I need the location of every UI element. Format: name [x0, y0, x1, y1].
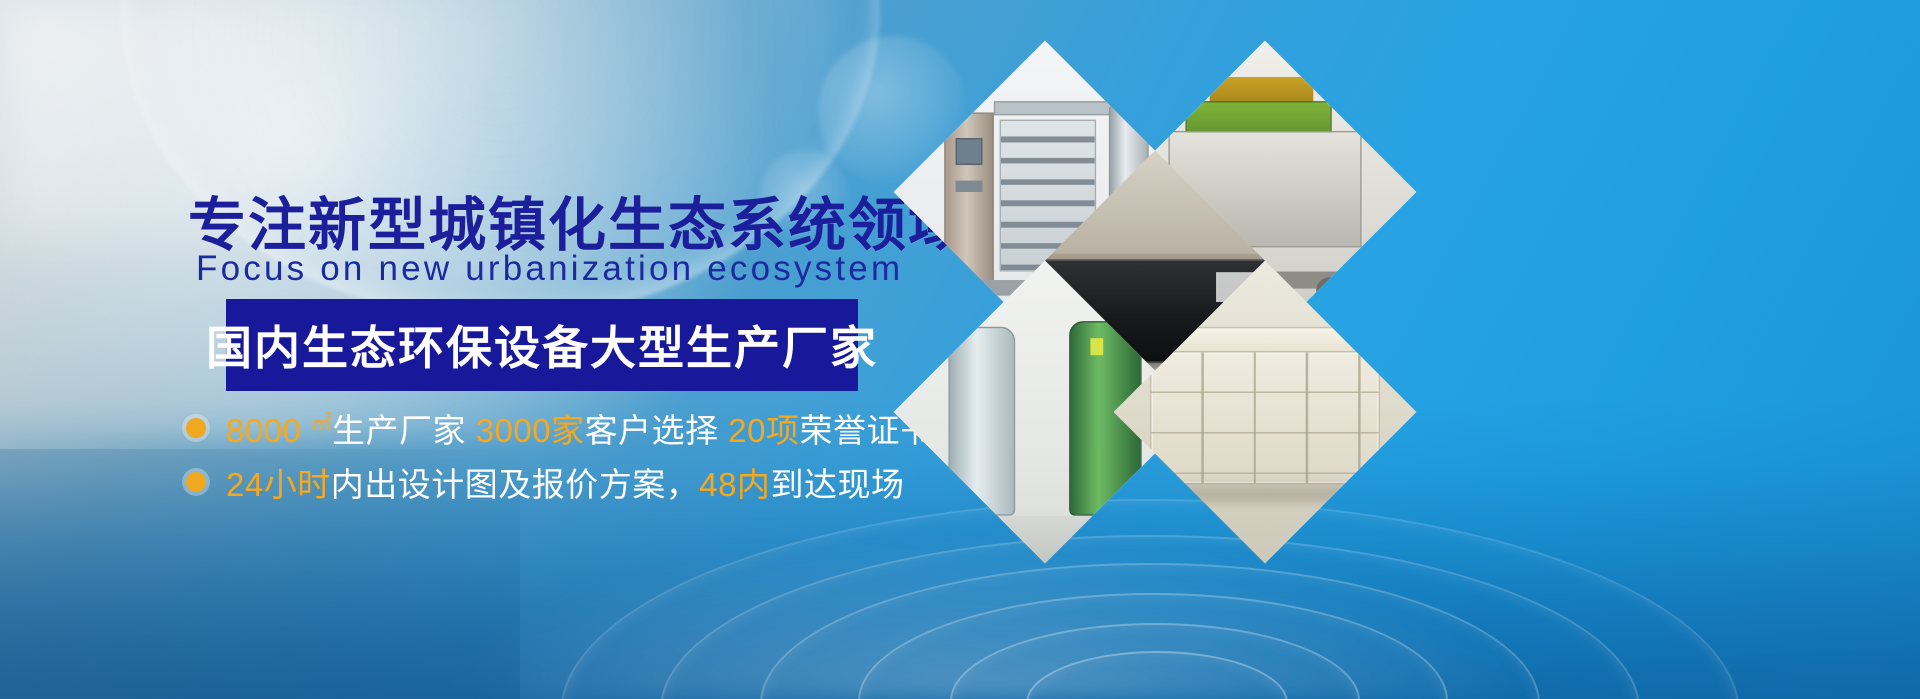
bullet-2-seg-1: 24小时 — [226, 466, 331, 503]
machine-wheel-right — [1317, 277, 1344, 304]
bullet-dot-icon — [186, 472, 206, 492]
bullet-dot-icon — [186, 418, 206, 438]
ro-control-cabinet — [945, 113, 994, 283]
list-item: 24小时内出设计图及报价方案，48内到达现场 — [186, 458, 934, 506]
bullet-1-unit: ㎡ — [311, 412, 332, 435]
highlight-banner-box: 国内生态环保设备大型生产厂家 — [226, 299, 858, 391]
bullet-1-seg-5: 20项 — [728, 412, 799, 449]
product-diamond-gallery — [900, 40, 1920, 600]
bullet-2-seg-4: 到达现场 — [770, 466, 904, 503]
bullet-1-seg-3: 3000家 — [476, 412, 585, 449]
ro-pipe-manifold — [993, 101, 1142, 116]
feature-bullet-list: 8000 ㎡生产厂家 3000家客户选择 20项荣誉证书 24小时内出设计图及报… — [186, 404, 934, 512]
page-subtitle: Focus on new urbanization ecosystem — [196, 249, 903, 289]
filter-tank-grey — [948, 327, 1015, 515]
block-stack-shadow — [1143, 485, 1386, 503]
bullet-1-seg-1: 8000 — [226, 412, 311, 449]
hero-banner: 专注新型城镇化生态系统领域 Focus on new urbanization … — [0, 0, 1920, 699]
bullet-2-seg-3: 48内 — [699, 466, 770, 503]
bullet-1-seg-4: 客户选择 — [585, 412, 729, 449]
bullet-text-1: 8000 ㎡生产厂家 3000家客户选择 20项荣誉证书 — [226, 404, 934, 452]
block-stack-body — [1150, 351, 1381, 485]
bullet-2-seg-2: 内出设计图及报价方案， — [331, 466, 700, 503]
list-item: 8000 ㎡生产厂家 3000家客户选择 20项荣誉证书 — [186, 404, 934, 452]
bullet-1-seg-2: 生产厂家 — [332, 412, 476, 449]
bullet-text-2: 24小时内出设计图及报价方案，48内到达现场 — [226, 458, 904, 506]
filter-tank-floor — [894, 515, 1197, 563]
highlight-banner-text: 国内生态环保设备大型生产厂家 — [206, 312, 878, 378]
